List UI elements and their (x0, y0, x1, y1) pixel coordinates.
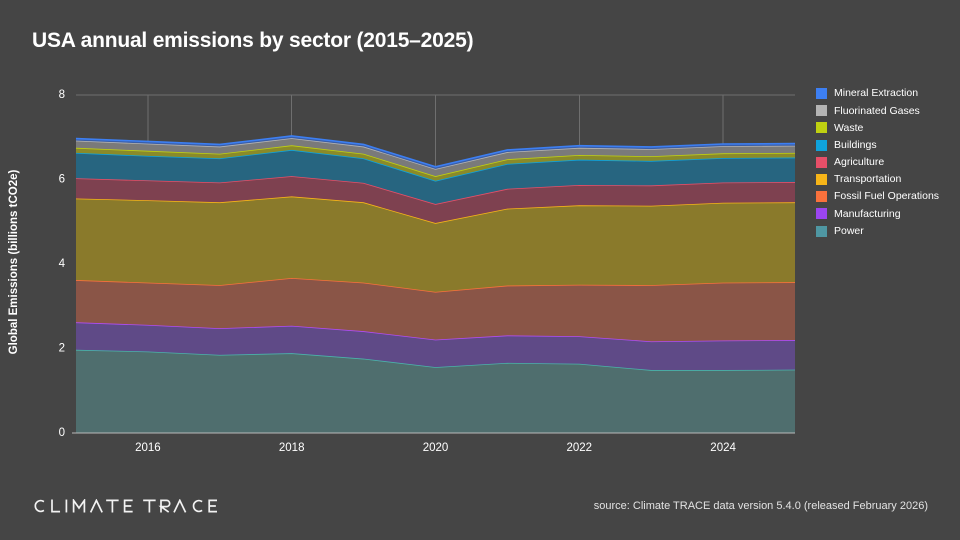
legend-item[interactable]: Power (816, 223, 956, 240)
legend-swatch-icon (816, 105, 827, 116)
x-tick-label: 2018 (279, 442, 305, 454)
legend-item[interactable]: Agriculture (816, 154, 956, 171)
y-tick-label: 0 (59, 427, 65, 439)
legend-swatch-icon (816, 208, 827, 219)
chart-canvas: USA annual emissions by sector (2015–202… (0, 0, 960, 540)
area-series-group (76, 136, 795, 433)
legend-item-label: Manufacturing (834, 209, 901, 220)
legend-item-label: Fluorinated Gases (834, 106, 920, 117)
legend-swatch-icon (816, 140, 827, 151)
y-tick-labels: 02468 (59, 89, 66, 439)
legend-item-label: Fossil Fuel Operations (834, 191, 939, 202)
legend-swatch-icon (816, 174, 827, 185)
y-tick-label: 2 (59, 343, 65, 355)
legend-item[interactable]: Fluorinated Gases (816, 102, 956, 119)
legend-item-label: Transportation (834, 174, 901, 185)
stacked-area-plot: 02468 20162018202020222024 (0, 0, 960, 540)
y-tick-label: 6 (59, 174, 65, 186)
legend-item-label: Agriculture (834, 157, 884, 168)
legend-swatch-icon (816, 122, 827, 133)
legend-swatch-icon (816, 226, 827, 237)
y-tick-label: 8 (59, 89, 65, 101)
legend-swatch-icon (816, 157, 827, 168)
legend-swatch-icon (816, 88, 827, 99)
legend-item-label: Waste (834, 123, 863, 134)
legend-item[interactable]: Waste (816, 119, 956, 136)
legend-swatch-icon (816, 191, 827, 202)
legend-item[interactable]: Fossil Fuel Operations (816, 188, 956, 205)
x-tick-label: 2020 (423, 442, 449, 454)
x-tick-labels: 20162018202020222024 (135, 442, 736, 454)
legend-item-label: Mineral Extraction (834, 88, 918, 99)
legend: Mineral ExtractionFluorinated GasesWaste… (816, 85, 956, 240)
x-tick-label: 2022 (567, 442, 593, 454)
x-tick-label: 2024 (710, 442, 736, 454)
legend-item[interactable]: Manufacturing (816, 205, 956, 222)
legend-item[interactable]: Transportation (816, 171, 956, 188)
climate-trace-logo (32, 497, 217, 515)
legend-item[interactable]: Buildings (816, 137, 956, 154)
legend-item-label: Power (834, 226, 864, 237)
legend-item[interactable]: Mineral Extraction (816, 85, 956, 102)
source-caption: source: Climate TRACE data version 5.4.0… (594, 500, 928, 512)
legend-item-label: Buildings (834, 140, 877, 151)
x-tick-label: 2016 (135, 442, 161, 454)
y-tick-label: 4 (59, 258, 66, 270)
